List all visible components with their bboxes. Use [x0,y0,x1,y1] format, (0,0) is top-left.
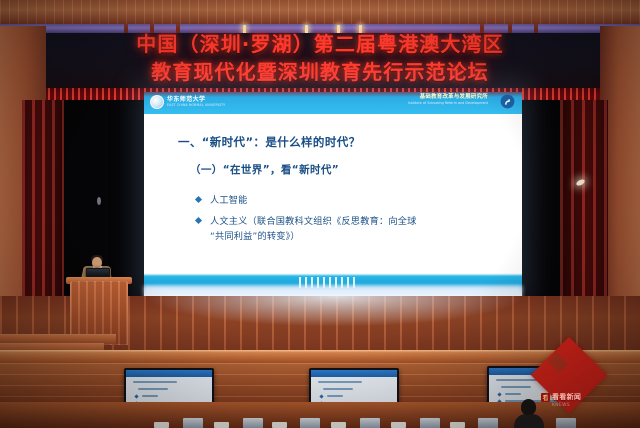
monitor-text-line [505,393,521,395]
speaker-head [92,257,102,268]
desk-laptop [360,418,380,428]
watermark-text: 看看新闻 [552,392,581,402]
desk-papers [214,422,229,428]
slide-bullet-item: 人工智能 [196,194,248,209]
desk-papers [331,422,346,428]
monitor-bullet-icon [134,394,138,398]
attendee-shoulders [514,414,544,428]
conference-hall-photo: 中国（深圳·罗湖）第二届粤港澳大湾区 教育现代化暨深圳教育先行示范论坛 华东师范… [0,0,640,428]
swan-logo-icon [500,94,515,109]
desk-laptop [243,418,263,428]
diamond-bullet-icon [195,217,202,224]
institute-name-cn: 基础教育改革与发展研究所 [408,95,488,100]
monitor-text-line [133,381,177,383]
ceiling [0,0,640,26]
watermark-mark-icon: 看 [541,393,550,402]
slide-bullet-text: 人工智能 [210,194,248,209]
left-curtain-folds [22,100,64,305]
university-seal-icon [150,95,164,109]
institute-logo-text: 基础教育改革与发展研究所 Institute of Schooling Refo… [408,95,488,105]
monitor-text-line [327,395,343,397]
monitor-text-line [323,388,353,390]
slide-subtitle: （一）“在世界”，看“新时代” [190,162,339,177]
projection-screen: 华东师范大学 EAST CHINA NORMAL UNIVERSITY 基础教育… [144,92,522,297]
desk-papers [272,422,287,428]
desk-papers [450,422,465,428]
right-curtain [560,100,608,308]
desk-papers [391,422,406,428]
monitor-text-line [142,395,158,397]
diamond-bullet-icon [195,196,202,203]
desk-laptop [183,418,203,428]
watermark-subtext: KNEWS [552,403,570,408]
stage-floor-light-wash [150,296,520,326]
university-name-en: EAST CHINA NORMAL UNIVERSITY [167,104,225,107]
desk-laptop [556,418,576,428]
university-logo: 华东师范大学 EAST CHINA NORMAL UNIVERSITY [150,95,225,109]
university-name-cn: 华东师范大学 [167,97,225,103]
ceiling-slats [0,0,640,26]
desk-papers [154,422,169,428]
stage-light-flare-secondary [97,197,101,205]
desk-laptop [478,418,498,428]
left-curtain [22,100,64,305]
right-curtain-folds [560,100,608,308]
monitor-text-line [318,381,362,383]
slide-bullet-text: 人文主义（联合国教科文组织《反思教育：向全球 “共同利益”的转变》） [210,215,417,245]
monitor-slide-header [311,370,397,377]
monitor-bullet-icon [319,394,323,398]
slide-bullet-item: 人文主义（联合国教科文组织《反思教育：向全球 “共同利益”的转变》） [196,215,417,245]
monitor-text-line [501,386,531,388]
desk-laptop [300,418,320,428]
podium-laptop-screen [87,269,109,276]
institute-name-en: Institute of Schooling Reform and Develo… [408,102,488,105]
slide-header-bar: 华东师范大学 EAST CHINA NORMAL UNIVERSITY 基础教育… [144,92,522,114]
broadcaster-watermark: 看 看看新闻 KNEWS [534,340,610,416]
desk-laptop [420,418,440,428]
slide-title: 一、“新时代”：是什么样的时代？ [178,134,361,150]
slide-body: 一、“新时代”：是什么样的时代？ （一）“在世界”，看“新时代” 人工智能 人文… [144,114,522,269]
event-banner-title: 中国（深圳·罗湖）第二届粤港澳大湾区 教育现代化暨深圳教育先行示范论坛 [0,30,640,87]
monitor-slide-header [126,370,212,377]
monitor-text-line [138,388,168,390]
monitor-bullet-icon [497,392,501,396]
